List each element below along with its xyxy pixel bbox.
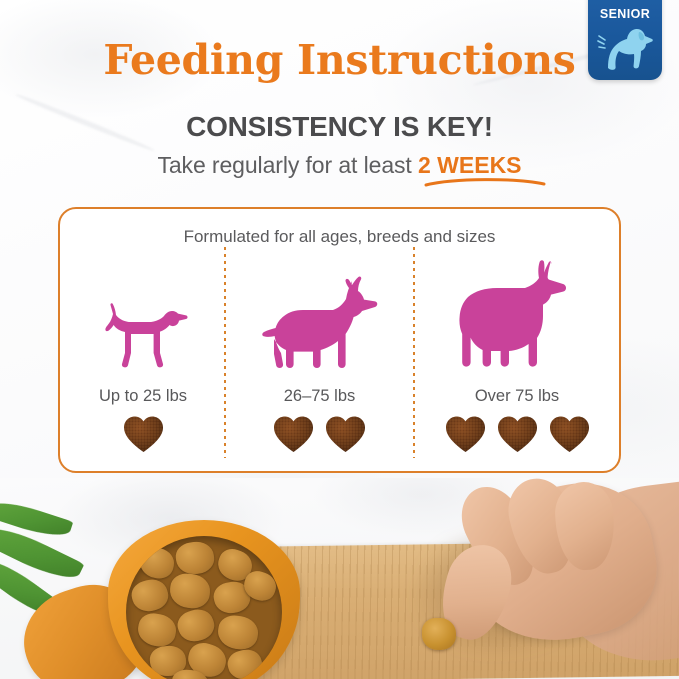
heart-treat-icon	[495, 413, 540, 455]
heart-treat-icon	[271, 413, 316, 455]
treat-count-large	[415, 413, 619, 455]
large-dog-wrap	[415, 260, 619, 370]
treat-tub	[108, 520, 300, 679]
subtitle: CONSISTENCY IS KEY!	[0, 111, 679, 143]
treat-count-small	[62, 413, 224, 455]
held-kibble	[422, 618, 456, 650]
large-dog-icon	[447, 258, 587, 370]
tagline-prefix: Take regularly for at least	[157, 152, 418, 178]
treat-count-medium	[226, 413, 413, 455]
underline-swoosh	[424, 175, 546, 187]
small-dog-icon	[95, 298, 191, 370]
feeding-column-large: Over 75 lbs	[415, 247, 619, 458]
card-caption: Formulated for all ages, breeds and size…	[60, 227, 619, 247]
heart-treat-icon	[323, 413, 368, 455]
small-dog-wrap	[62, 260, 224, 370]
medium-dog-wrap	[226, 260, 413, 370]
heart-treat-icon	[121, 413, 166, 455]
medium-dog-icon	[257, 274, 383, 370]
size-label-medium: 26–75 lbs	[226, 387, 413, 406]
page-title: Feeding Instructions	[0, 36, 679, 84]
heart-treat-icon	[443, 413, 488, 455]
feeding-column-medium: 26–75 lbs	[226, 247, 413, 458]
tagline: Take regularly for at least 2 WEEKS	[0, 152, 679, 179]
size-label-large: Over 75 lbs	[415, 387, 619, 406]
tub-interior	[126, 536, 282, 679]
feeding-column-small: Up to 25 lbs	[62, 247, 224, 458]
heart-treat-icon	[547, 413, 592, 455]
size-label-small: Up to 25 lbs	[62, 387, 224, 406]
senior-badge-label: SENIOR	[588, 7, 662, 21]
feeding-instructions-infographic: SENIOR Feeding Instructions CONSISTENCY …	[0, 0, 679, 679]
feeding-chart-card: Formulated for all ages, breeds and size…	[58, 207, 621, 473]
